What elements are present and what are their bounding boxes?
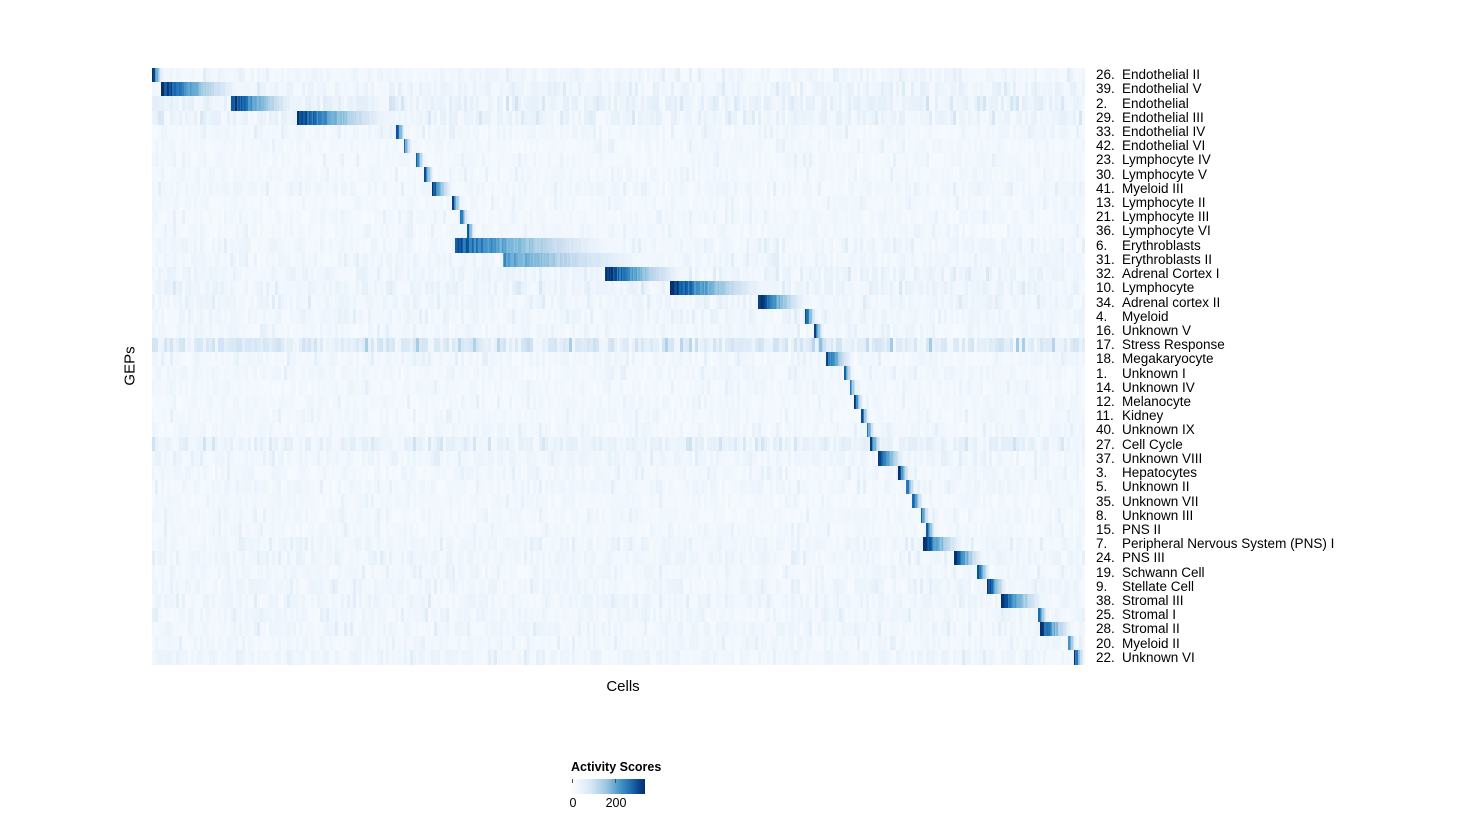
heatmap-row	[152, 494, 1085, 508]
gep-label: 4.Myeloid	[1096, 310, 1169, 324]
gep-number: 17.	[1096, 338, 1122, 352]
gep-label: 29.Endothelial III	[1096, 111, 1204, 125]
gep-label: 22.Unknown VI	[1096, 651, 1195, 665]
heatmap-row	[152, 409, 1085, 423]
gep-name: Lymphocyte II	[1122, 195, 1206, 210]
heatmap-row	[152, 167, 1085, 181]
gep-name: Lymphocyte V	[1122, 167, 1207, 182]
gep-label: 25.Stromal I	[1096, 608, 1176, 622]
gep-label: 40.Unknown IX	[1096, 423, 1195, 437]
gep-label: 15.PNS II	[1096, 523, 1161, 537]
colorbar-tick-min	[572, 779, 573, 783]
colorbar-tick-labels: 0 200	[570, 796, 770, 812]
heatmap-row	[152, 466, 1085, 480]
heatmap-row	[152, 96, 1085, 110]
gep-name: Unknown VIII	[1122, 451, 1202, 466]
heatmap-row	[152, 352, 1085, 366]
gep-name: Unknown VI	[1122, 650, 1195, 665]
gep-label: 28.Stromal II	[1096, 622, 1180, 636]
heatmap-row	[152, 565, 1085, 579]
gep-number: 30.	[1096, 168, 1122, 182]
gep-name: Erythroblasts	[1122, 238, 1201, 253]
gep-name: Peripheral Nervous System (PNS) I	[1122, 536, 1334, 551]
gep-label: 23.Lymphocyte IV	[1096, 153, 1211, 167]
gep-number: 31.	[1096, 253, 1122, 267]
gep-name: Lymphocyte IV	[1122, 152, 1211, 167]
gep-name: Lymphocyte	[1122, 280, 1194, 295]
gep-number: 5.	[1096, 480, 1122, 494]
gep-number: 16.	[1096, 324, 1122, 338]
heatmap-row	[152, 366, 1085, 380]
heatmap-row	[152, 182, 1085, 196]
heatmap-row	[152, 537, 1085, 551]
heatmap-row	[152, 153, 1085, 167]
gep-name: Stellate Cell	[1122, 579, 1194, 594]
gep-number: 2.	[1096, 97, 1122, 111]
gep-number: 6.	[1096, 239, 1122, 253]
heatmap-row	[152, 551, 1085, 565]
colorbar-label-max: 200	[606, 796, 627, 810]
gep-number: 13.	[1096, 196, 1122, 210]
gep-number: 26.	[1096, 68, 1122, 82]
heatmap-row	[152, 238, 1085, 252]
heatmap-row	[152, 111, 1085, 125]
gep-label: 38.Stromal III	[1096, 594, 1184, 608]
heatmap-row	[152, 523, 1085, 537]
heatmap-row	[152, 650, 1085, 664]
gep-label: 6.Erythroblasts	[1096, 239, 1201, 253]
gep-label: 5.Unknown II	[1096, 480, 1190, 494]
gep-number: 29.	[1096, 111, 1122, 125]
colorbar-title: Activity Scores	[571, 760, 770, 774]
heatmap-row	[152, 594, 1085, 608]
colorbar-label-min: 0	[570, 796, 577, 810]
gep-name: Stromal II	[1122, 621, 1180, 636]
heatmap-row	[152, 380, 1085, 394]
colorbar-gradient	[570, 779, 645, 794]
gep-name: Lymphocyte III	[1122, 209, 1209, 224]
gep-name: Endothelial V	[1122, 81, 1202, 96]
gep-number: 36.	[1096, 224, 1122, 238]
y-axis-label: GEPs	[122, 346, 139, 385]
gep-number: 7.	[1096, 537, 1122, 551]
gep-number: 3.	[1096, 466, 1122, 480]
gep-name: Unknown I	[1122, 366, 1186, 381]
gep-number: 1.	[1096, 367, 1122, 381]
gep-number: 39.	[1096, 82, 1122, 96]
heatmap-row	[152, 608, 1085, 622]
gep-number: 40.	[1096, 423, 1122, 437]
heatmap-row	[152, 125, 1085, 139]
gep-label: 3.Hepatocytes	[1096, 466, 1197, 480]
gep-number: 33.	[1096, 125, 1122, 139]
gep-label: 31.Erythroblasts II	[1096, 253, 1212, 267]
gep-label: 27.Cell Cycle	[1096, 438, 1183, 452]
gep-number: 10.	[1096, 281, 1122, 295]
gep-name: Lymphocyte VI	[1122, 223, 1211, 238]
gep-label: 26.Endothelial II	[1096, 68, 1200, 82]
heatmap-row	[152, 451, 1085, 465]
heatmap-row	[152, 508, 1085, 522]
gep-name: Schwann Cell	[1122, 565, 1205, 580]
gep-number: 15.	[1096, 523, 1122, 537]
gep-label: 36.Lymphocyte VI	[1096, 224, 1211, 238]
gep-name: PNS III	[1122, 550, 1165, 565]
gep-label: 9.Stellate Cell	[1096, 580, 1194, 594]
gep-label: 30.Lymphocyte V	[1096, 168, 1207, 182]
gep-number: 25.	[1096, 608, 1122, 622]
gep-number: 34.	[1096, 296, 1122, 310]
heatmap-row	[152, 196, 1085, 210]
heatmap-row	[152, 309, 1085, 323]
gep-label: 2.Endothelial	[1096, 97, 1189, 111]
gep-label: 34.Adrenal cortex II	[1096, 296, 1220, 310]
gep-name: Endothelial VI	[1122, 138, 1205, 153]
heatmap-row	[152, 253, 1085, 267]
gep-number: 42.	[1096, 139, 1122, 153]
gep-label: 10.Lymphocyte	[1096, 281, 1194, 295]
gep-name: Endothelial III	[1122, 110, 1204, 125]
gep-label: 11.Kidney	[1096, 409, 1163, 423]
heatmap-row	[152, 324, 1085, 338]
colorbar-legend: Activity Scores 0 200	[570, 760, 770, 812]
gep-number: 23.	[1096, 153, 1122, 167]
heatmap-row	[152, 338, 1085, 352]
gep-name: Myeloid II	[1122, 636, 1180, 651]
gep-label: 14.Unknown IV	[1096, 381, 1195, 395]
gep-label-list: 26.Endothelial II39.Endothelial V2.Endot…	[1096, 68, 1446, 665]
heatmap-row	[152, 68, 1085, 82]
gep-name: Adrenal Cortex I	[1122, 266, 1220, 281]
gep-number: 11.	[1096, 409, 1122, 423]
gep-number: 27.	[1096, 438, 1122, 452]
gep-name: Adrenal cortex II	[1122, 295, 1220, 310]
gep-label: 33.Endothelial IV	[1096, 125, 1205, 139]
heatmap-row	[152, 267, 1085, 281]
gep-label: 17.Stress Response	[1096, 338, 1225, 352]
gep-label: 12.Melanocyte	[1096, 395, 1191, 409]
gep-name: Endothelial IV	[1122, 124, 1205, 139]
gep-number: 19.	[1096, 566, 1122, 580]
gep-number: 24.	[1096, 551, 1122, 565]
gep-number: 8.	[1096, 509, 1122, 523]
gep-number: 21.	[1096, 210, 1122, 224]
gep-name: Unknown III	[1122, 508, 1193, 523]
gep-name: Stress Response	[1122, 337, 1225, 352]
heatmap-row	[152, 622, 1085, 636]
gep-name: Unknown IV	[1122, 380, 1195, 395]
gep-number: 12.	[1096, 395, 1122, 409]
gep-label: 19.Schwann Cell	[1096, 566, 1205, 580]
gep-name: PNS II	[1122, 522, 1161, 537]
gep-number: 18.	[1096, 352, 1122, 366]
gep-name: Myeloid	[1122, 309, 1169, 324]
gep-number: 41.	[1096, 182, 1122, 196]
gep-label: 39.Endothelial V	[1096, 82, 1202, 96]
heatmap-row	[152, 437, 1085, 451]
gep-label: 42.Endothelial VI	[1096, 139, 1205, 153]
gep-name: Megakaryocyte	[1122, 351, 1214, 366]
gep-label: 35.Unknown VII	[1096, 495, 1199, 509]
heatmap-row	[152, 210, 1085, 224]
heatmap-row	[152, 395, 1085, 409]
gep-label: 37.Unknown VIII	[1096, 452, 1202, 466]
gep-number: 22.	[1096, 651, 1122, 665]
gep-number: 38.	[1096, 594, 1122, 608]
gep-number: 37.	[1096, 452, 1122, 466]
gep-name: Myeloid III	[1122, 181, 1184, 196]
gep-label: 8.Unknown III	[1096, 509, 1193, 523]
heatmap-row	[152, 480, 1085, 494]
gep-number: 35.	[1096, 495, 1122, 509]
heatmap-plot	[152, 68, 1085, 665]
heatmap-row	[152, 295, 1085, 309]
heatmap-row	[152, 636, 1085, 650]
gep-name: Unknown IX	[1122, 422, 1195, 437]
gep-number: 32.	[1096, 267, 1122, 281]
gep-label: 32.Adrenal Cortex I	[1096, 267, 1220, 281]
gep-name: Hepatocytes	[1122, 465, 1197, 480]
heatmap-row	[152, 224, 1085, 238]
gep-label: 13.Lymphocyte II	[1096, 196, 1206, 210]
heatmap-row	[152, 423, 1085, 437]
gep-label: 1.Unknown I	[1096, 367, 1186, 381]
gep-number: 28.	[1096, 622, 1122, 636]
gep-number: 14.	[1096, 381, 1122, 395]
gep-label: 18.Megakaryocyte	[1096, 352, 1214, 366]
gep-number: 20.	[1096, 637, 1122, 651]
gep-name: Unknown VII	[1122, 494, 1199, 509]
gep-label: 7.Peripheral Nervous System (PNS) I	[1096, 537, 1334, 551]
gep-name: Endothelial	[1122, 96, 1189, 111]
heatmap-row	[152, 579, 1085, 593]
gep-label: 21.Lymphocyte III	[1096, 210, 1209, 224]
gep-name: Stromal III	[1122, 593, 1184, 608]
gep-name: Cell Cycle	[1122, 437, 1183, 452]
gep-name: Erythroblasts II	[1122, 252, 1212, 267]
gep-name: Endothelial II	[1122, 67, 1200, 82]
gep-name: Kidney	[1122, 408, 1163, 423]
heatmap-row	[152, 139, 1085, 153]
colorbar-tick-max	[615, 779, 616, 783]
heatmap-row	[152, 281, 1085, 295]
gep-name: Melanocyte	[1122, 394, 1191, 409]
gep-label: 24.PNS III	[1096, 551, 1165, 565]
gep-name: Unknown V	[1122, 323, 1191, 338]
gep-name: Unknown II	[1122, 479, 1190, 494]
gep-number: 9.	[1096, 580, 1122, 594]
gep-name: Stromal I	[1122, 607, 1176, 622]
gep-label: 20.Myeloid II	[1096, 637, 1180, 651]
gep-label: 41.Myeloid III	[1096, 182, 1184, 196]
gep-label: 16.Unknown V	[1096, 324, 1191, 338]
x-axis-label: Cells	[606, 678, 639, 695]
heatmap-row	[152, 82, 1085, 96]
gep-number: 4.	[1096, 310, 1122, 324]
